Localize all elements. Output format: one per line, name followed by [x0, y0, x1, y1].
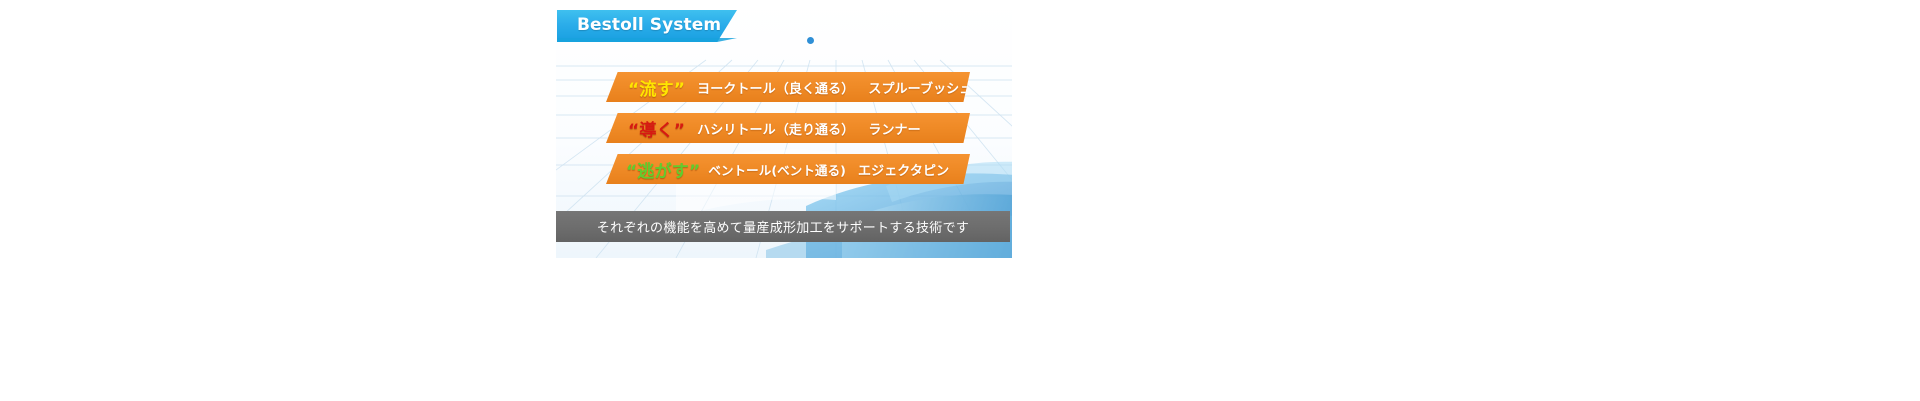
feature-part-name: エジェクタピン	[858, 160, 949, 179]
caption-text: それぞれの機能を高めて量産成形加工をサポートする技術です	[597, 217, 969, 236]
title-banner-label: Bestoll System	[577, 10, 721, 42]
feature-keyword: “逃がす”	[626, 157, 700, 182]
title-banner: Bestoll System	[557, 10, 737, 42]
accent-dot-icon	[807, 37, 814, 44]
feature-keyword: “導く”	[628, 116, 685, 141]
feature-term: ベントール(ベント通る)	[708, 160, 846, 179]
feature-part-name: スプルーブッシュ	[868, 78, 972, 97]
feature-bar-nigasu: “逃がす” ベントール(ベント通る) エジェクタピン	[606, 154, 970, 184]
feature-part-name: ランナー	[868, 119, 920, 138]
feature-bar-nagasu: “流す” ヨークトール（良く通る） スプルーブッシュ	[606, 72, 970, 102]
feature-term: ハシリトール（走り通る）	[697, 119, 854, 138]
feature-keyword: “流す”	[628, 75, 685, 100]
feature-bar-michibiku: “導く” ハシリトール（走り通る） ランナー	[606, 113, 970, 143]
feature-term: ヨークトール（良く通る）	[697, 78, 854, 97]
slide-canvas: Bestoll System “流す” ヨークトール（良く通る） スプルーブッシ…	[0, 0, 1920, 401]
caption-bar: それぞれの機能を高めて量産成形加工をサポートする技術です	[556, 211, 1010, 242]
